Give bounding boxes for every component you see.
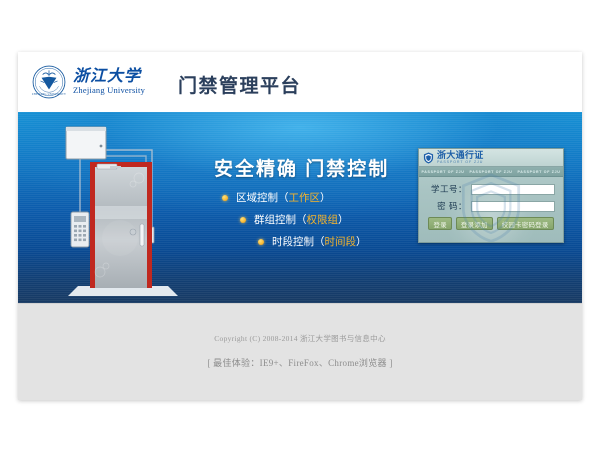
svg-text:ZHEJIANG UNIVERSITY: ZHEJIANG UNIVERSITY [32,93,66,96]
site-header: ZHEJIANG UNIVERSITY 浙江大学 Zhejiang Univer… [18,52,582,112]
controller-box [66,127,106,159]
orange-dot-icon [258,239,264,245]
page-container: ZHEJIANG UNIVERSITY 浙江大学 Zhejiang Univer… [18,52,582,400]
copyright-text: Copyright (C) 2008-2014 浙江大学图书与信息中心 [18,333,582,344]
strip-word: PASSPORT OF ZJU [422,170,465,174]
student-staff-id-label: 学工号： [427,183,467,195]
login-button-row: 登录 登录添加 校园卡密码登录 [419,217,563,230]
page-title: 门禁管理平台 [178,71,301,98]
screenshot-viewport: ZHEJIANG UNIVERSITY 浙江大学 Zhejiang Univer… [0,0,600,450]
zju-seal-icon: ZHEJIANG UNIVERSITY [32,65,66,99]
login-add-button[interactable]: 登录添加 [456,217,493,230]
login-form: 学工号： 密 码： 登录 登录添加 校园卡密码登录 [419,177,563,230]
feature-item-time: 时段控制（时间段） [258,234,367,249]
campus-card-login-button[interactable]: 校园卡密码登录 [497,217,554,230]
university-logo[interactable]: ZHEJIANG UNIVERSITY 浙江大学 Zhejiang Univer… [32,65,145,99]
browser-compatibility-note: [ 最佳体验：IE9+、FireFox、Chrome浏览器 ] [18,356,582,369]
strip-word: PASSPORT OF ZJU [470,170,513,174]
feature-text-end: ） [320,190,331,205]
feature-text: 区域控制（ [236,190,289,205]
access-control-door-illustration [40,120,190,302]
shield-icon [423,152,434,164]
form-row-id: 学工号： [419,183,563,195]
keypad-reader [71,212,89,247]
login-button[interactable]: 登录 [428,217,451,230]
feature-text: 时段控制（ [272,234,325,249]
passport-strip: PASSPORT OF ZJU PASSPORT OF ZJU PASSPORT… [419,167,563,177]
login-panel-subtitle: PASSPORT OF ZJU [437,161,484,165]
login-panel-title: 浙大通行证 [437,151,484,160]
student-staff-id-field[interactable] [471,184,555,195]
feature-text: 群组控制（ [254,212,307,227]
logo-name-cn: 浙江大学 [73,68,145,85]
banner-slogan: 安全精确 门禁控制 [214,154,389,181]
feature-text-end: ） [356,234,367,249]
site-footer: Copyright (C) 2008-2014 浙江大学图书与信息中心 [ 最佳… [18,303,582,400]
hero-banner: 安全精确 门禁控制 区域控制（工作区） 群组控制（权限组） 时段控制（时间段） [18,112,582,303]
strip-word: PASSPORT OF ZJU [518,170,561,174]
feature-item-group: 群组控制（权限组） [240,212,367,227]
feature-highlight: 权限组 [307,212,339,227]
feature-highlight: 时间段 [325,234,357,249]
feature-highlight: 工作区 [289,190,321,205]
feature-list: 区域控制（工作区） 群组控制（权限组） 时段控制（时间段） [222,190,367,256]
password-field[interactable] [471,201,555,212]
orange-dot-icon [222,195,228,201]
door-with-red-frame [90,162,152,288]
password-label: 密 码： [427,200,467,212]
form-row-password: 密 码： [419,200,563,212]
orange-dot-icon [240,217,246,223]
logo-name-en: Zhejiang University [73,85,145,96]
login-panel-header: 浙大通行证 PASSPORT OF ZJU [419,149,563,167]
login-panel: 浙大通行证 PASSPORT OF ZJU PASSPORT OF ZJU PA… [418,148,564,243]
feature-item-area: 区域控制（工作区） [222,190,367,205]
feature-text-end: ） [338,212,349,227]
